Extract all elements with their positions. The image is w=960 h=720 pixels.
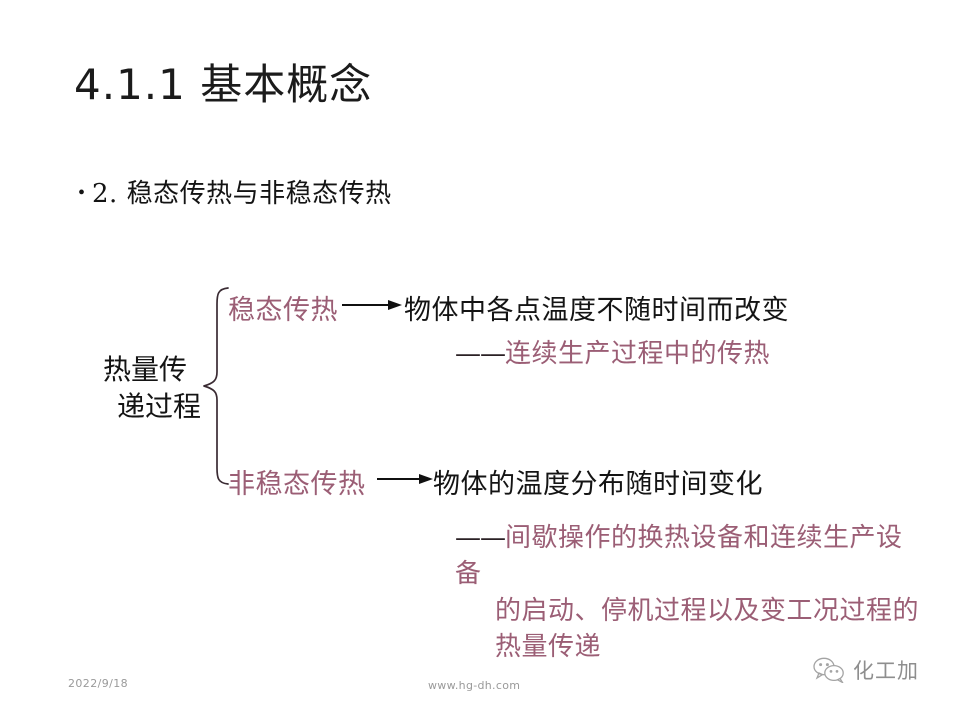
left-curly-brace-icon bbox=[198, 286, 232, 486]
watermark-label: 化工加 bbox=[853, 655, 919, 685]
footer-url: www.hg-dh.com bbox=[428, 679, 520, 692]
diagram-root-label: 热量传 递过程 bbox=[103, 352, 201, 426]
note-dash-unsteady: —— bbox=[455, 523, 505, 553]
note-unsteady-line-2: 的启动、停机过程以及变工况过程的 bbox=[455, 593, 925, 629]
footer-date: 2022/9/18 bbox=[68, 677, 128, 690]
bullet-list-item: • 2. 稳态传热与非稳态传热 bbox=[78, 173, 392, 210]
bullet-item-label: 2. 稳态传热与非稳态传热 bbox=[92, 173, 392, 210]
page-title: 4.1.1 基本概念 bbox=[74, 62, 372, 108]
root-label-line-1: 热量传 bbox=[103, 352, 201, 389]
right-arrow-icon bbox=[377, 471, 433, 487]
watermark: 化工加 bbox=[812, 655, 919, 685]
definition-unsteady: 物体的温度分布随时间变化 bbox=[433, 462, 763, 501]
branch-label-steady: 稳态传热 bbox=[228, 288, 338, 327]
slide-canvas: 4.1.1 基本概念 • 2. 稳态传热与非稳态传热 热量传 递过程 稳态传热 … bbox=[0, 0, 960, 720]
branch-label-unsteady: 非稳态传热 bbox=[228, 462, 366, 501]
note-unsteady-line-1: 间歇操作的换热设备和连续生产设备 bbox=[455, 523, 903, 589]
definition-steady: 物体中各点温度不随时间而改变 bbox=[404, 288, 789, 327]
bullet-marker-icon: • bbox=[78, 183, 85, 203]
note-unsteady: ——间歇操作的换热设备和连续生产设备 的启动、停机过程以及变工况过程的 热量传递 bbox=[455, 520, 925, 666]
root-label-line-2: 递过程 bbox=[103, 389, 201, 426]
note-text-steady: 连续生产过程中的传热 bbox=[505, 339, 770, 369]
note-steady: ——连续生产过程中的传热 bbox=[455, 336, 770, 372]
wechat-icon bbox=[812, 657, 846, 683]
note-dash-steady: —— bbox=[455, 339, 505, 369]
right-arrow-icon bbox=[342, 297, 402, 313]
